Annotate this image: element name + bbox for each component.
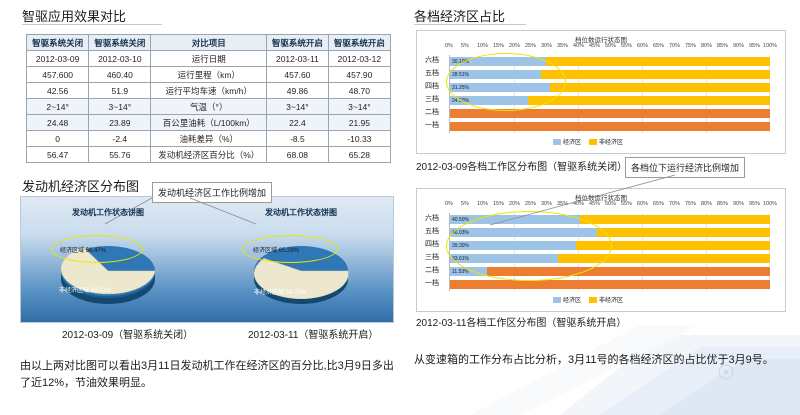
- conclusion-right: 从变速箱的工作分布占比分析，3月11号的各档经济区的占比优于3月9号。: [414, 352, 784, 369]
- chart-legend: 经济区 非经济区: [553, 295, 623, 304]
- xtick: 95%: [749, 43, 760, 49]
- cell: 56.47: [27, 147, 89, 163]
- cat-label: 二档: [425, 265, 439, 275]
- legend-label: 非经济区: [599, 298, 623, 304]
- th-4: 智驱系统开启: [328, 35, 390, 51]
- bar-noneconomic-3: [528, 96, 770, 105]
- pie-svg: [226, 219, 376, 319]
- cat-label: 四档: [425, 239, 439, 249]
- section-title-pie-text: 发动机经济区分布图: [22, 179, 139, 194]
- legend-item-economic: 经济区: [553, 137, 581, 146]
- table-header-row: 智驱系统关闭 智驱系统关闭 对比项目 智驱系统开启 智驱系统开启: [27, 35, 391, 51]
- th-0: 智驱系统关闭: [27, 35, 89, 51]
- xtick: 100%: [763, 201, 777, 207]
- cell: 457.600: [27, 67, 89, 83]
- cell: 49.86: [267, 83, 329, 99]
- cat-label: 三档: [425, 252, 439, 262]
- cell: -10.33: [328, 131, 390, 147]
- x-axis-ticks: 0% 5% 10% 15% 20% 25% 30% 35% 40% 45% 50…: [449, 43, 775, 53]
- comparison-table-wrap: 智驱系统关闭 智驱系统关闭 对比项目 智驱系统开启 智驱系统开启 2012-03…: [26, 34, 391, 163]
- highlight-ellipse: [446, 53, 566, 111]
- xtick: 85%: [717, 201, 728, 207]
- section-title-right-text: 各档经济区占比: [414, 9, 505, 24]
- cell: 气温（°）: [151, 99, 267, 115]
- legend-label: 非经济区: [599, 140, 623, 146]
- bottom-callout-leader: [470, 173, 700, 231]
- xtick: 10%: [477, 43, 488, 49]
- cat-label: 三档: [425, 94, 439, 104]
- cell: 2012-03-09: [27, 51, 89, 67]
- xtick: 40%: [573, 43, 584, 49]
- table-row: 457.600 460.40 运行里程（km） 457.60 457.90: [27, 67, 391, 83]
- xtick: 0%: [445, 201, 453, 207]
- table-row: 24.48 23.89 百公里油耗（L/100km） 22.4 21.95: [27, 115, 391, 131]
- cell: 457.90: [328, 67, 390, 83]
- bar-noneconomic-6: [546, 57, 770, 66]
- xtick: 80%: [701, 201, 712, 207]
- xtick: 20%: [509, 43, 520, 49]
- chart-caption-bottom: 2012-03-11各档工作区分布图（智驱系统开启）: [416, 314, 626, 329]
- cell: 0: [27, 131, 89, 147]
- legend-label: 经济区: [563, 298, 581, 304]
- y-axis-categories: 六档 五档 四档 三档 二档 一档: [421, 213, 449, 291]
- table-row: 2012-03-09 2012-03-10 运行日期 2012-03-11 20…: [27, 51, 391, 67]
- cell: 22.4: [267, 115, 329, 131]
- bar-noneconomic-1: [450, 280, 770, 289]
- xtick: 5%: [461, 43, 469, 49]
- bar-chart-0309: 档位数运行状态图 0% 5% 10% 15% 20% 25% 30% 35% 4…: [416, 30, 786, 154]
- chart-legend: 经济区 非经济区: [553, 137, 623, 146]
- table-row: 56.47 55.76 发动机经济区百分比（%） 68.08 65.28: [27, 147, 391, 163]
- pie-svg: [33, 219, 183, 319]
- xtick: 70%: [669, 43, 680, 49]
- pie-callout-leaders: [80, 194, 260, 234]
- xtick: 35%: [557, 43, 568, 49]
- cell: 发动机经济区百分比（%）: [151, 147, 267, 163]
- cell: 运行里程（km）: [151, 67, 267, 83]
- highlight-ellipse: [242, 235, 338, 263]
- cat-label: 六档: [425, 213, 439, 223]
- cell: 百公里油耗（L/100km）: [151, 115, 267, 131]
- bar-noneconomic-1: [450, 122, 770, 131]
- cell: 2~14°: [27, 99, 89, 115]
- pie-label-noneconomic: 非经济区域 43.53%: [59, 285, 111, 294]
- chart-caption-top: 2012-03-09各档工作区分布图（智驱系统关闭）: [416, 158, 627, 173]
- table-row: 42.56 51.9 运行平均车速（km/h） 49.86 48.70: [27, 83, 391, 99]
- xtick: 0%: [445, 43, 453, 49]
- title-underline: [22, 24, 162, 25]
- cat-label: 五档: [425, 68, 439, 78]
- bar-noneconomic-4: [550, 83, 770, 92]
- cat-label: 二档: [425, 107, 439, 117]
- xtick: 100%: [763, 43, 777, 49]
- cell: 21.95: [328, 115, 390, 131]
- cell: 51.9: [89, 83, 151, 99]
- xtick: 90%: [733, 43, 744, 49]
- cell: 油耗差异（%）: [151, 131, 267, 147]
- cell: 457.60: [267, 67, 329, 83]
- cell: 运行日期: [151, 51, 267, 67]
- cell: 23.89: [89, 115, 151, 131]
- pie-caption-left: 2012-03-09（智驱系统关闭）: [62, 326, 193, 341]
- cell: 68.08: [267, 147, 329, 163]
- th-3: 智驱系统开启: [267, 35, 329, 51]
- y-axis-categories: 六档 五档 四档 三档 二档 一档: [421, 55, 449, 133]
- xtick: 50%: [605, 43, 616, 49]
- highlight-ellipse: [51, 235, 143, 263]
- legend-item-economic: 经济区: [553, 295, 581, 304]
- th-2: 对比项目: [151, 35, 267, 51]
- cat-label: 六档: [425, 55, 439, 65]
- pie-caption-right: 2012-03-11（智驱系统开启）: [248, 326, 378, 341]
- xtick: 90%: [733, 201, 744, 207]
- plot-area: 30.10% 28.51% 31.25% 24.50%: [449, 55, 770, 133]
- pie-label-noneconomic: 非经济区域 34.72%: [254, 287, 306, 296]
- comparison-table: 智驱系统关闭 智驱系统关闭 对比项目 智驱系统开启 智驱系统开启 2012-03…: [26, 34, 391, 163]
- cat-label: 四档: [425, 81, 439, 91]
- table-row: 0 -2.4 油耗差异（%） -8.5 -10.33: [27, 131, 391, 147]
- cell: 运行平均车速（km/h）: [151, 83, 267, 99]
- xtick: 85%: [717, 43, 728, 49]
- section-title-pie: 发动机经济区分布图: [22, 176, 139, 195]
- section-title-left-text: 智驱应用效果对比: [22, 9, 126, 24]
- bottom-chart-callout-text: 各档位下运行经济比例增加: [631, 163, 739, 173]
- cat-label: 一档: [425, 278, 439, 288]
- cell: 2012-03-12: [328, 51, 390, 67]
- cell: 3~14°: [267, 99, 329, 115]
- legend-label: 经济区: [563, 140, 581, 146]
- cell: 48.70: [328, 83, 390, 99]
- cell: 2012-03-11: [267, 51, 329, 67]
- xtick: 60%: [637, 43, 648, 49]
- cell: -8.5: [267, 131, 329, 147]
- xtick: 55%: [621, 43, 632, 49]
- xtick: 15%: [493, 43, 504, 49]
- cell: 3~14°: [89, 99, 151, 115]
- xtick: 30%: [541, 43, 552, 49]
- cell: 65.28: [328, 147, 390, 163]
- title-underline: [414, 24, 526, 25]
- bar-noneconomic-5: [541, 70, 770, 79]
- cat-label: 五档: [425, 226, 439, 236]
- xtick: 45%: [589, 43, 600, 49]
- xtick: 65%: [653, 43, 664, 49]
- xtick: 80%: [701, 43, 712, 49]
- xtick: 95%: [749, 201, 760, 207]
- section-title-right: 各档经济区占比: [414, 6, 505, 25]
- xtick: 25%: [525, 43, 536, 49]
- cell: -2.4: [89, 131, 151, 147]
- th-1: 智驱系统关闭: [89, 35, 151, 51]
- legend-item-noneconomic: 非经济区: [589, 295, 623, 304]
- cell: 55.76: [89, 147, 151, 163]
- legend-item-noneconomic: 非经济区: [589, 137, 623, 146]
- cell: 24.48: [27, 115, 89, 131]
- cat-label: 一档: [425, 120, 439, 130]
- cell: 2012-03-10: [89, 51, 151, 67]
- cell: 3~14°: [328, 99, 390, 115]
- conclusion-left: 由以上两对比图可以看出3月11日发动机工作在经济区的百分比,比3月9日多出了近1…: [20, 358, 400, 392]
- table-row: 2~14° 3~14° 气温（°） 3~14° 3~14°: [27, 99, 391, 115]
- section-title-left: 智驱应用效果对比: [22, 6, 126, 25]
- cell: 42.56: [27, 83, 89, 99]
- xtick: 5%: [461, 201, 469, 207]
- cell: 460.40: [89, 67, 151, 83]
- xtick: 75%: [685, 43, 696, 49]
